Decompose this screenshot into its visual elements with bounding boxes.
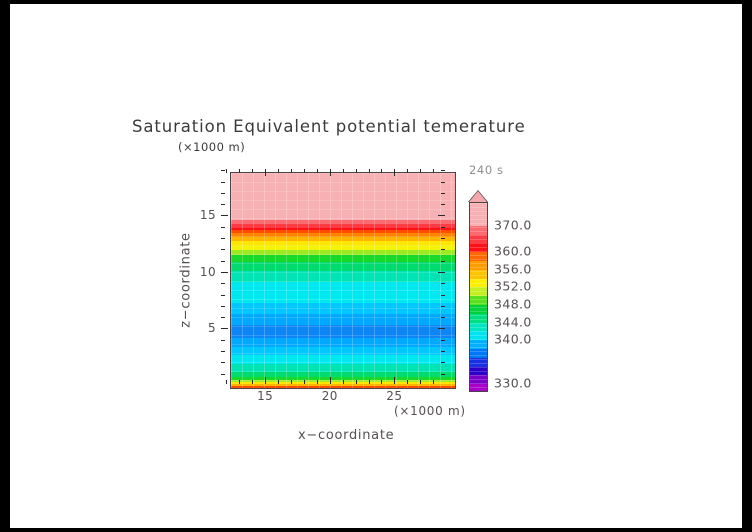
- axis-tick: [441, 204, 445, 205]
- x-axis-units-label: (×1000 m): [394, 404, 466, 418]
- axis-tick: [441, 374, 445, 375]
- axis-tick: [441, 306, 445, 307]
- axis-tick: [291, 380, 292, 384]
- axis-tick: [369, 380, 370, 384]
- axis-tick: [221, 193, 225, 194]
- axis-tick: [441, 295, 445, 296]
- axis-tick: [221, 328, 228, 329]
- axis-tick: [221, 170, 225, 171]
- axis-tick: [441, 238, 445, 239]
- colorbar-tick-label: 352.0: [494, 279, 532, 294]
- axis-tick: [278, 380, 279, 384]
- axis-tick: [330, 169, 331, 176]
- colorbar-body: [469, 202, 488, 392]
- axis-tick: [441, 182, 445, 183]
- colorbar-tick-label: 348.0: [494, 297, 532, 312]
- axis-tick: [433, 380, 434, 384]
- axis-tick: [441, 249, 445, 250]
- axis-tick: [278, 169, 279, 173]
- x-axis-title: x−coordinate: [298, 428, 394, 443]
- contour-band: [231, 325, 455, 339]
- axis-tick: [221, 362, 225, 363]
- axis-tick: [221, 215, 228, 216]
- axis-tick: [441, 261, 445, 262]
- axis-tick: [221, 306, 225, 307]
- y-axis-title: z−coordinate: [179, 232, 194, 327]
- axis-tick: [441, 283, 445, 284]
- contour-band: [231, 303, 455, 314]
- axis-tick: [221, 295, 225, 296]
- axis-tick: [343, 380, 344, 384]
- axis-tick: [226, 169, 227, 173]
- axis-tick: [438, 328, 445, 329]
- figure-frame: Saturation Equivalent potential temeratu…: [0, 0, 752, 532]
- axis-tick: [226, 380, 227, 384]
- axis-tick: [221, 204, 225, 205]
- axis-tick: [252, 169, 253, 173]
- axis-tick: [221, 317, 225, 318]
- contour-band: [231, 173, 455, 220]
- axis-tick: [441, 193, 445, 194]
- page-title: Saturation Equivalent potential temeratu…: [132, 117, 602, 136]
- y-tick-label: 15: [196, 208, 216, 222]
- axis-tick: [441, 362, 445, 363]
- axis-tick: [221, 227, 225, 228]
- colorbar-tick-label: 370.0: [494, 217, 532, 232]
- axis-tick: [221, 261, 225, 262]
- colorbar-tick-label: 340.0: [494, 332, 532, 347]
- axis-tick: [221, 238, 225, 239]
- colorbar-segment: [470, 203, 487, 226]
- axis-tick: [221, 283, 225, 284]
- figure-canvas: Saturation Equivalent potential temeratu…: [10, 4, 742, 528]
- axis-tick: [441, 317, 445, 318]
- axis-tick: [438, 272, 445, 273]
- axis-tick: [330, 377, 331, 384]
- x-tick-label: 20: [322, 389, 338, 403]
- axis-tick: [317, 169, 318, 173]
- axis-tick: [291, 169, 292, 173]
- axis-tick: [407, 380, 408, 384]
- axis-tick: [221, 374, 225, 375]
- axis-tick: [239, 380, 240, 384]
- contour-band: [231, 271, 455, 282]
- colorbar-tick-label: 330.0: [494, 376, 532, 391]
- axis-tick: [381, 169, 382, 173]
- axis-tick: [441, 227, 445, 228]
- colorbar-segment: [470, 384, 487, 392]
- axis-tick: [343, 169, 344, 173]
- axis-tick: [438, 215, 445, 216]
- axis-tick: [221, 340, 225, 341]
- axis-tick: [356, 380, 357, 384]
- colorbar: [469, 202, 488, 392]
- axis-tick: [369, 169, 370, 173]
- x-tick-label: 15: [257, 389, 273, 403]
- axis-tick: [221, 249, 225, 250]
- axis-tick: [304, 380, 305, 384]
- axis-tick: [221, 351, 225, 352]
- y-tick-label: 10: [196, 265, 216, 279]
- contour-band: [231, 282, 455, 304]
- contour-plot-area: [230, 172, 456, 389]
- axis-tick: [433, 169, 434, 173]
- axis-tick: [304, 169, 305, 173]
- colorbar-tick-label: 344.0: [494, 314, 532, 329]
- axis-tick: [239, 169, 240, 173]
- axis-tick: [394, 377, 395, 384]
- axis-tick: [420, 169, 421, 173]
- axis-tick: [265, 377, 266, 384]
- axis-tick: [252, 380, 253, 384]
- axis-tick: [356, 169, 357, 173]
- axis-tick: [441, 351, 445, 352]
- colorbar-tick-label: 356.0: [494, 261, 532, 276]
- axis-tick: [420, 380, 421, 384]
- axis-tick: [265, 169, 266, 176]
- contour-band: [231, 314, 455, 325]
- colorbar-arrow-icon: [469, 191, 487, 202]
- y-axis-units-label: (×1000 m): [178, 140, 245, 154]
- y-tick-label: 5: [196, 321, 216, 335]
- axis-tick: [381, 380, 382, 384]
- x-tick-label: 25: [386, 389, 402, 403]
- axis-tick: [317, 380, 318, 384]
- colorbar-tick-label: 360.0: [494, 244, 532, 259]
- axis-tick: [221, 182, 225, 183]
- axis-tick: [407, 169, 408, 173]
- axis-tick: [441, 340, 445, 341]
- axis-tick: [394, 169, 395, 176]
- axis-tick: [441, 170, 445, 171]
- timestamp-label: 240 s: [469, 163, 504, 177]
- axis-tick: [221, 272, 228, 273]
- contour-bands: [231, 173, 455, 388]
